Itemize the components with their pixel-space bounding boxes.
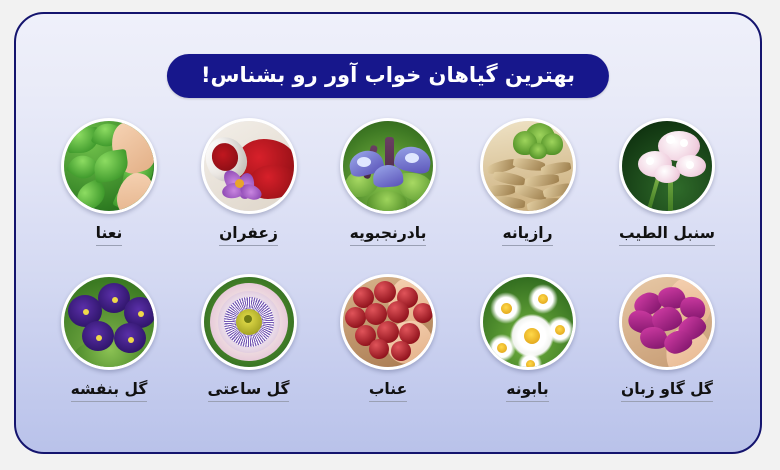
valerian-photo-icon[interactable]: [619, 118, 715, 214]
herb-item-passionflower[interactable]: گل ساعتی: [190, 274, 308, 402]
borage-photo-icon[interactable]: [619, 274, 715, 370]
herb-row-2: گل بنفشه گل ساعتی: [50, 274, 726, 402]
herb-label: گل ساعتی: [208, 380, 290, 402]
herb-label: سنبل الطیب: [619, 224, 715, 246]
herb-row-1: نعنا: [50, 118, 726, 246]
herb-item-mint[interactable]: نعنا: [50, 118, 168, 246]
herb-label: عناب: [369, 380, 407, 402]
mint-photo-icon[interactable]: [61, 118, 157, 214]
herb-item-jujube[interactable]: عناب: [329, 274, 447, 402]
herb-item-saffron[interactable]: زعفران: [190, 118, 308, 246]
page-title: بهترین گیاهان خواب آور رو بشناس!: [167, 54, 609, 98]
chamomile-photo-icon[interactable]: [480, 274, 576, 370]
herb-item-chamomile[interactable]: بابونه: [469, 274, 587, 402]
lemon-balm-photo-icon[interactable]: [340, 118, 436, 214]
infographic-card: بهترین گیاهان خواب آور رو بشناس!: [14, 12, 762, 454]
herb-item-fennel[interactable]: رازیانه: [469, 118, 587, 246]
herb-item-valerian[interactable]: سنبل الطیب: [608, 118, 726, 246]
jujube-photo-icon[interactable]: [340, 274, 436, 370]
herb-label: رازیانه: [502, 224, 552, 246]
herb-item-violet[interactable]: گل بنفشه: [50, 274, 168, 402]
herb-label: بادرنجبویه: [350, 224, 427, 246]
saffron-photo-icon[interactable]: [201, 118, 297, 214]
herb-label: زعفران: [219, 224, 278, 246]
herb-item-lemon-balm[interactable]: بادرنجبویه: [329, 118, 447, 246]
herb-label: بابونه: [506, 380, 548, 402]
herb-label: گل گاو زبان: [621, 380, 713, 402]
passionflower-photo-icon[interactable]: [201, 274, 297, 370]
fennel-photo-icon[interactable]: [480, 118, 576, 214]
violet-photo-icon[interactable]: [61, 274, 157, 370]
infographic-stage: بهترین گیاهان خواب آور رو بشناس!: [0, 0, 780, 470]
herb-label: گل بنفشه: [71, 380, 148, 402]
herb-label: نعنا: [96, 224, 123, 246]
herb-grid: نعنا: [16, 118, 760, 402]
herb-item-borage[interactable]: گل گاو زبان: [608, 274, 726, 402]
